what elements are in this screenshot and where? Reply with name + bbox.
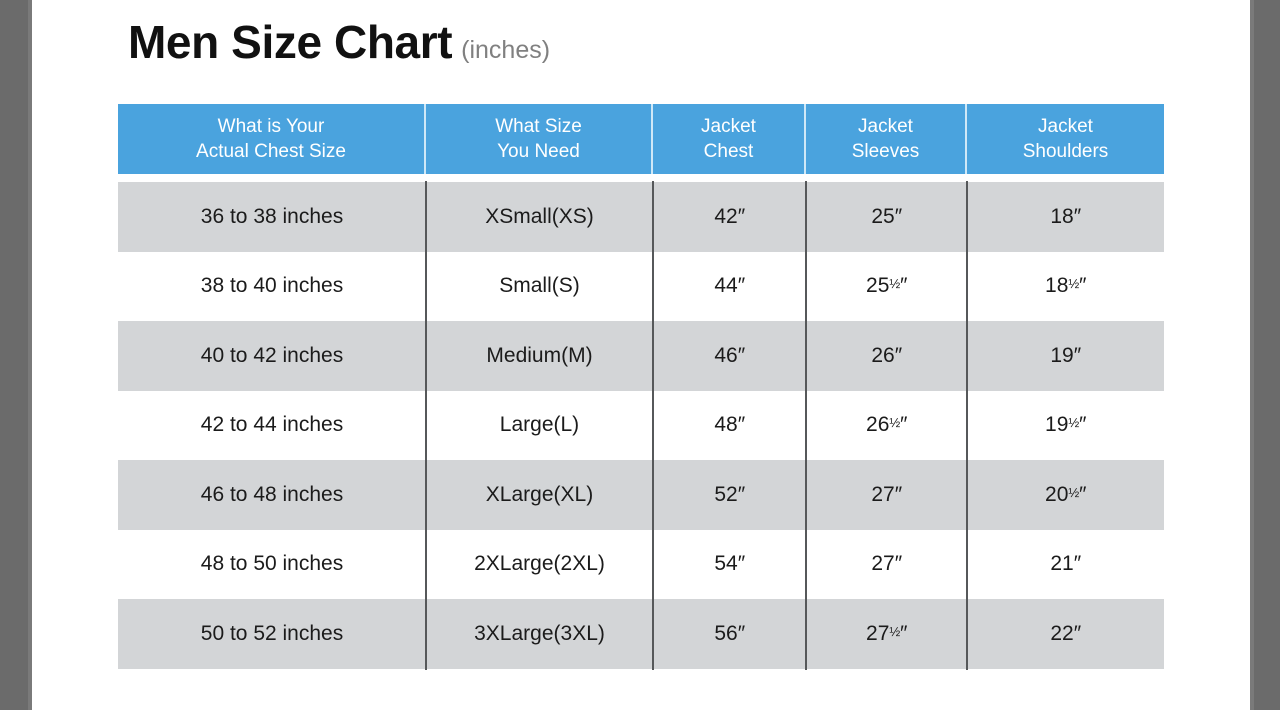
- measurement-value: 42″: [714, 205, 744, 229]
- cell-jacket-shoulders: 22″: [967, 599, 1164, 669]
- measurement-value: 19″: [1050, 344, 1080, 368]
- fraction-half: ½: [1068, 276, 1079, 291]
- inch-mark: ″: [1079, 413, 1086, 436]
- column-header-jacket-sleeves: JacketSleeves: [806, 104, 967, 174]
- cell-size-you-need: 3XLarge(3XL): [426, 599, 653, 669]
- cell-jacket-chest: 48″: [653, 391, 806, 461]
- cell-jacket-sleeves: 26″: [806, 321, 967, 391]
- inch-mark: ″: [1074, 205, 1081, 228]
- cell-actual-chest-size: 38 to 40 inches: [118, 252, 426, 322]
- measurement-value: 26″: [871, 344, 901, 368]
- cell-jacket-chest: 42″: [653, 182, 806, 252]
- slide-canvas: Men Size Chart (inches) What is YourActu…: [32, 0, 1250, 710]
- cell-jacket-shoulders: 18½″: [967, 252, 1164, 322]
- header-line-2: Chest: [701, 139, 756, 164]
- cell-size-you-need: Large(L): [426, 391, 653, 461]
- inch-mark: ″: [738, 413, 745, 436]
- inch-mark: ″: [1074, 552, 1081, 575]
- page-title-main: Men Size Chart: [128, 18, 452, 66]
- inch-mark: ″: [738, 622, 745, 645]
- column-header-size-you-need: What SizeYou Need: [426, 104, 653, 174]
- measurement-value: 19½″: [1045, 413, 1086, 437]
- inch-mark: ″: [895, 344, 902, 367]
- measurement-value: 48″: [714, 413, 744, 437]
- header-line-2: Shoulders: [1023, 139, 1109, 164]
- cell-jacket-shoulders: 19″: [967, 321, 1164, 391]
- inch-mark: ″: [1074, 622, 1081, 645]
- measurement-value: 56″: [714, 622, 744, 646]
- size-chart-table: What is YourActual Chest SizeWhat SizeYo…: [118, 104, 1164, 669]
- cell-actual-chest-size: 42 to 44 inches: [118, 391, 426, 461]
- fraction-half: ½: [889, 624, 900, 639]
- inch-mark: ″: [895, 205, 902, 228]
- inch-mark: ″: [895, 483, 902, 506]
- table-row: 42 to 44 inchesLarge(L)48″26½″19½″: [118, 391, 1164, 461]
- table-row: 40 to 42 inchesMedium(M)46″26″19″: [118, 321, 1164, 391]
- cell-jacket-sleeves: 25″: [806, 182, 967, 252]
- header-line-2: Actual Chest Size: [196, 139, 346, 164]
- letterbox-bar-left: [0, 0, 32, 710]
- header-line-1: What Size: [495, 114, 582, 139]
- header-line-1: What is Your: [196, 114, 346, 139]
- header-line-1: Jacket: [852, 114, 920, 139]
- measurement-value: 18″: [1050, 205, 1080, 229]
- cell-size-you-need: XSmall(XS): [426, 182, 653, 252]
- inch-mark: ″: [738, 344, 745, 367]
- measurement-value: 27″: [871, 483, 901, 507]
- column-header-jacket-shoulders: JacketShoulders: [967, 104, 1164, 174]
- inch-mark: ″: [895, 552, 902, 575]
- column-header-jacket-chest: JacketChest: [653, 104, 806, 174]
- inch-mark: ″: [738, 483, 745, 506]
- fraction-half: ½: [889, 276, 900, 291]
- table-row: 38 to 40 inchesSmall(S)44″25½″18½″: [118, 252, 1164, 322]
- cell-jacket-chest: 44″: [653, 252, 806, 322]
- inch-mark: ″: [1079, 274, 1086, 297]
- measurement-value: 22″: [1050, 622, 1080, 646]
- cell-size-you-need: Medium(M): [426, 321, 653, 391]
- measurement-value: 46″: [714, 344, 744, 368]
- inch-mark: ″: [738, 205, 745, 228]
- fraction-half: ½: [889, 415, 900, 430]
- inch-mark: ″: [738, 552, 745, 575]
- cell-jacket-sleeves: 25½″: [806, 252, 967, 322]
- fraction-half: ½: [1068, 415, 1079, 430]
- cell-jacket-shoulders: 21″: [967, 530, 1164, 600]
- inch-mark: ″: [1074, 344, 1081, 367]
- page-title: Men Size Chart (inches): [128, 18, 550, 66]
- inch-mark: ″: [738, 274, 745, 297]
- header-line-1: Jacket: [701, 114, 756, 139]
- cell-jacket-sleeves: 27″: [806, 460, 967, 530]
- measurement-value: 27½″: [866, 622, 907, 646]
- cell-jacket-shoulders: 18″: [967, 182, 1164, 252]
- inch-mark: ″: [1079, 483, 1086, 506]
- measurement-value: 25½″: [866, 274, 907, 298]
- measurement-value: 27″: [871, 552, 901, 576]
- table-row: 48 to 50 inches2XLarge(2XL)54″27″21″: [118, 530, 1164, 600]
- table-row: 50 to 52 inches3XLarge(3XL)56″27½″22″: [118, 599, 1164, 669]
- inch-mark: ″: [900, 622, 907, 645]
- measurement-value: 26½″: [866, 413, 907, 437]
- column-header-actual-chest-size: What is YourActual Chest Size: [118, 104, 426, 174]
- inch-mark: ″: [900, 413, 907, 436]
- cell-jacket-chest: 46″: [653, 321, 806, 391]
- header-line-1: Jacket: [1023, 114, 1109, 139]
- cell-actual-chest-size: 40 to 42 inches: [118, 321, 426, 391]
- table-row: 46 to 48 inchesXLarge(XL)52″27″20½″: [118, 460, 1164, 530]
- cell-size-you-need: 2XLarge(2XL): [426, 530, 653, 600]
- inch-mark: ″: [900, 274, 907, 297]
- cell-jacket-shoulders: 20½″: [967, 460, 1164, 530]
- page-title-units: (inches): [461, 36, 550, 65]
- cell-size-you-need: Small(S): [426, 252, 653, 322]
- measurement-value: 20½″: [1045, 483, 1086, 507]
- measurement-value: 21″: [1050, 552, 1080, 576]
- header-line-2: You Need: [495, 139, 582, 164]
- fraction-half: ½: [1068, 485, 1079, 500]
- cell-jacket-shoulders: 19½″: [967, 391, 1164, 461]
- measurement-value: 25″: [871, 205, 901, 229]
- cell-jacket-chest: 52″: [653, 460, 806, 530]
- measurement-value: 54″: [714, 552, 744, 576]
- cell-jacket-sleeves: 27″: [806, 530, 967, 600]
- cell-actual-chest-size: 48 to 50 inches: [118, 530, 426, 600]
- header-line-2: Sleeves: [852, 139, 920, 164]
- measurement-value: 52″: [714, 483, 744, 507]
- header-body-gap: [118, 174, 1164, 182]
- measurement-value: 44″: [714, 274, 744, 298]
- letterbox-bar-right: [1250, 0, 1280, 710]
- cell-size-you-need: XLarge(XL): [426, 460, 653, 530]
- table-body: 36 to 38 inchesXSmall(XS)42″25″18″38 to …: [118, 182, 1164, 669]
- cell-actual-chest-size: 46 to 48 inches: [118, 460, 426, 530]
- table-row: 36 to 38 inchesXSmall(XS)42″25″18″: [118, 182, 1164, 252]
- cell-jacket-sleeves: 27½″: [806, 599, 967, 669]
- cell-jacket-sleeves: 26½″: [806, 391, 967, 461]
- measurement-value: 18½″: [1045, 274, 1086, 298]
- cell-jacket-chest: 56″: [653, 599, 806, 669]
- cell-jacket-chest: 54″: [653, 530, 806, 600]
- cell-actual-chest-size: 36 to 38 inches: [118, 182, 426, 252]
- table-header-row: What is YourActual Chest SizeWhat SizeYo…: [118, 104, 1164, 174]
- cell-actual-chest-size: 50 to 52 inches: [118, 599, 426, 669]
